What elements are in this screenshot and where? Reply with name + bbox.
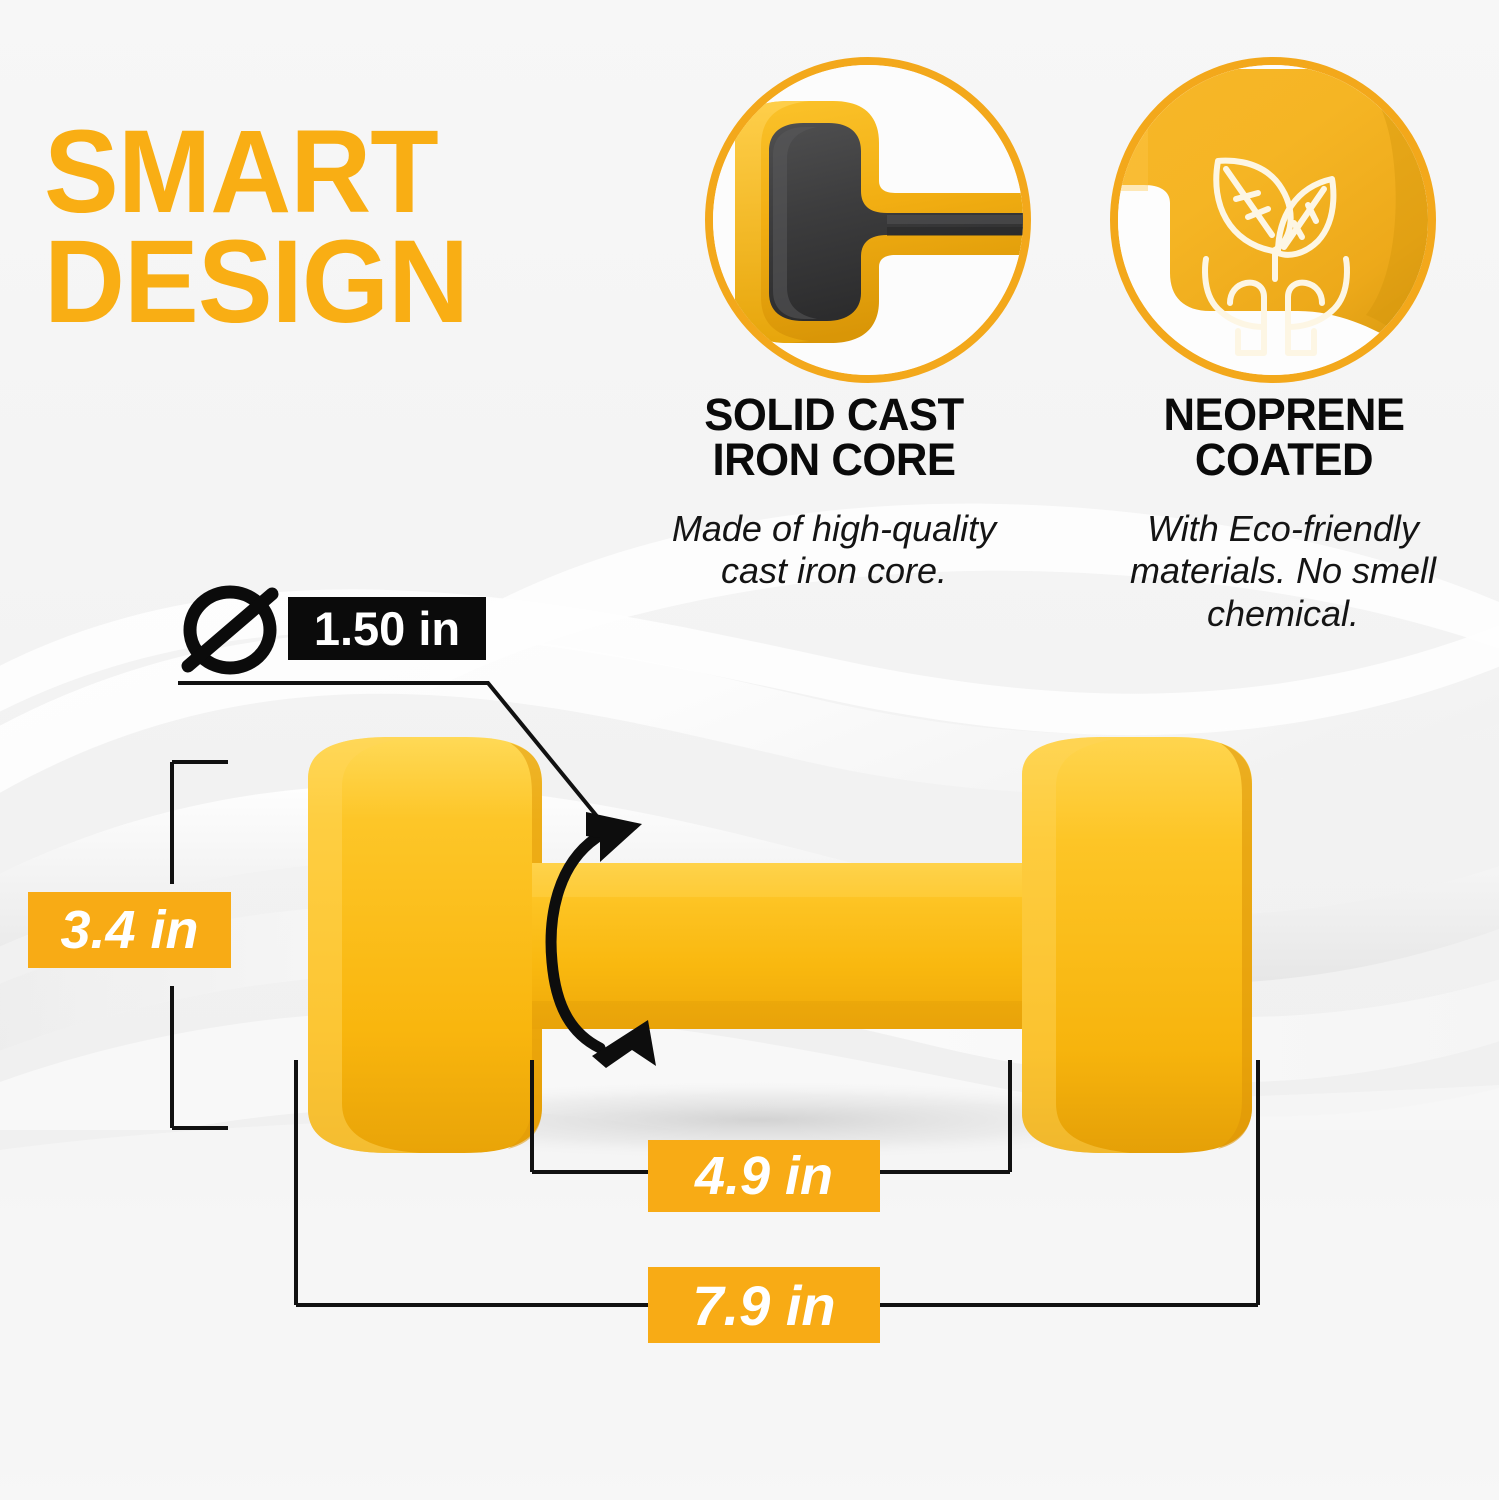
handle-length-value-badge: 4.9 in	[648, 1140, 880, 1212]
total-length-value-badge: 7.9 in	[648, 1267, 880, 1343]
height-value-badge: 3.4 in	[28, 892, 231, 968]
diameter-value-badge: 1.50 in	[288, 597, 486, 660]
diameter-symbol-icon	[176, 576, 284, 684]
